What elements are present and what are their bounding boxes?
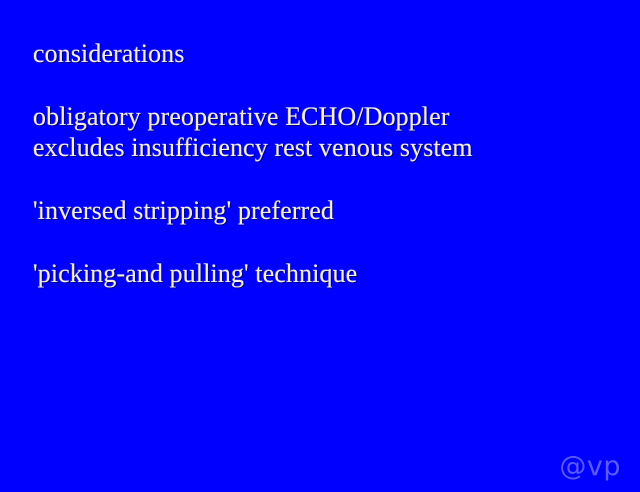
watermark: @vp (559, 453, 621, 480)
bullet-inversed-stripping: 'inversed stripping' preferred (33, 195, 613, 226)
slide-line: considerations (33, 38, 613, 69)
bullet-picking-and-pulling: 'picking-and pulling' technique (33, 258, 613, 289)
slide-line: 'inversed stripping' preferred (33, 195, 613, 226)
heading-considerations: considerations (33, 38, 613, 69)
slide-line: obligatory preoperative ECHO/Doppler (33, 101, 613, 132)
slide-line: 'picking-and pulling' technique (33, 258, 613, 289)
block-spacer (33, 94, 613, 101)
slide-content: considerations obligatory preoperative E… (33, 38, 613, 289)
bullet-echo-doppler: obligatory preoperative ECHO/Doppler exc… (33, 101, 613, 163)
block-spacer (33, 188, 613, 195)
block-spacer (33, 251, 613, 258)
slide-line: excludes insufficiency rest venous syste… (33, 132, 613, 163)
presentation-slide: considerations obligatory preoperative E… (0, 0, 640, 492)
